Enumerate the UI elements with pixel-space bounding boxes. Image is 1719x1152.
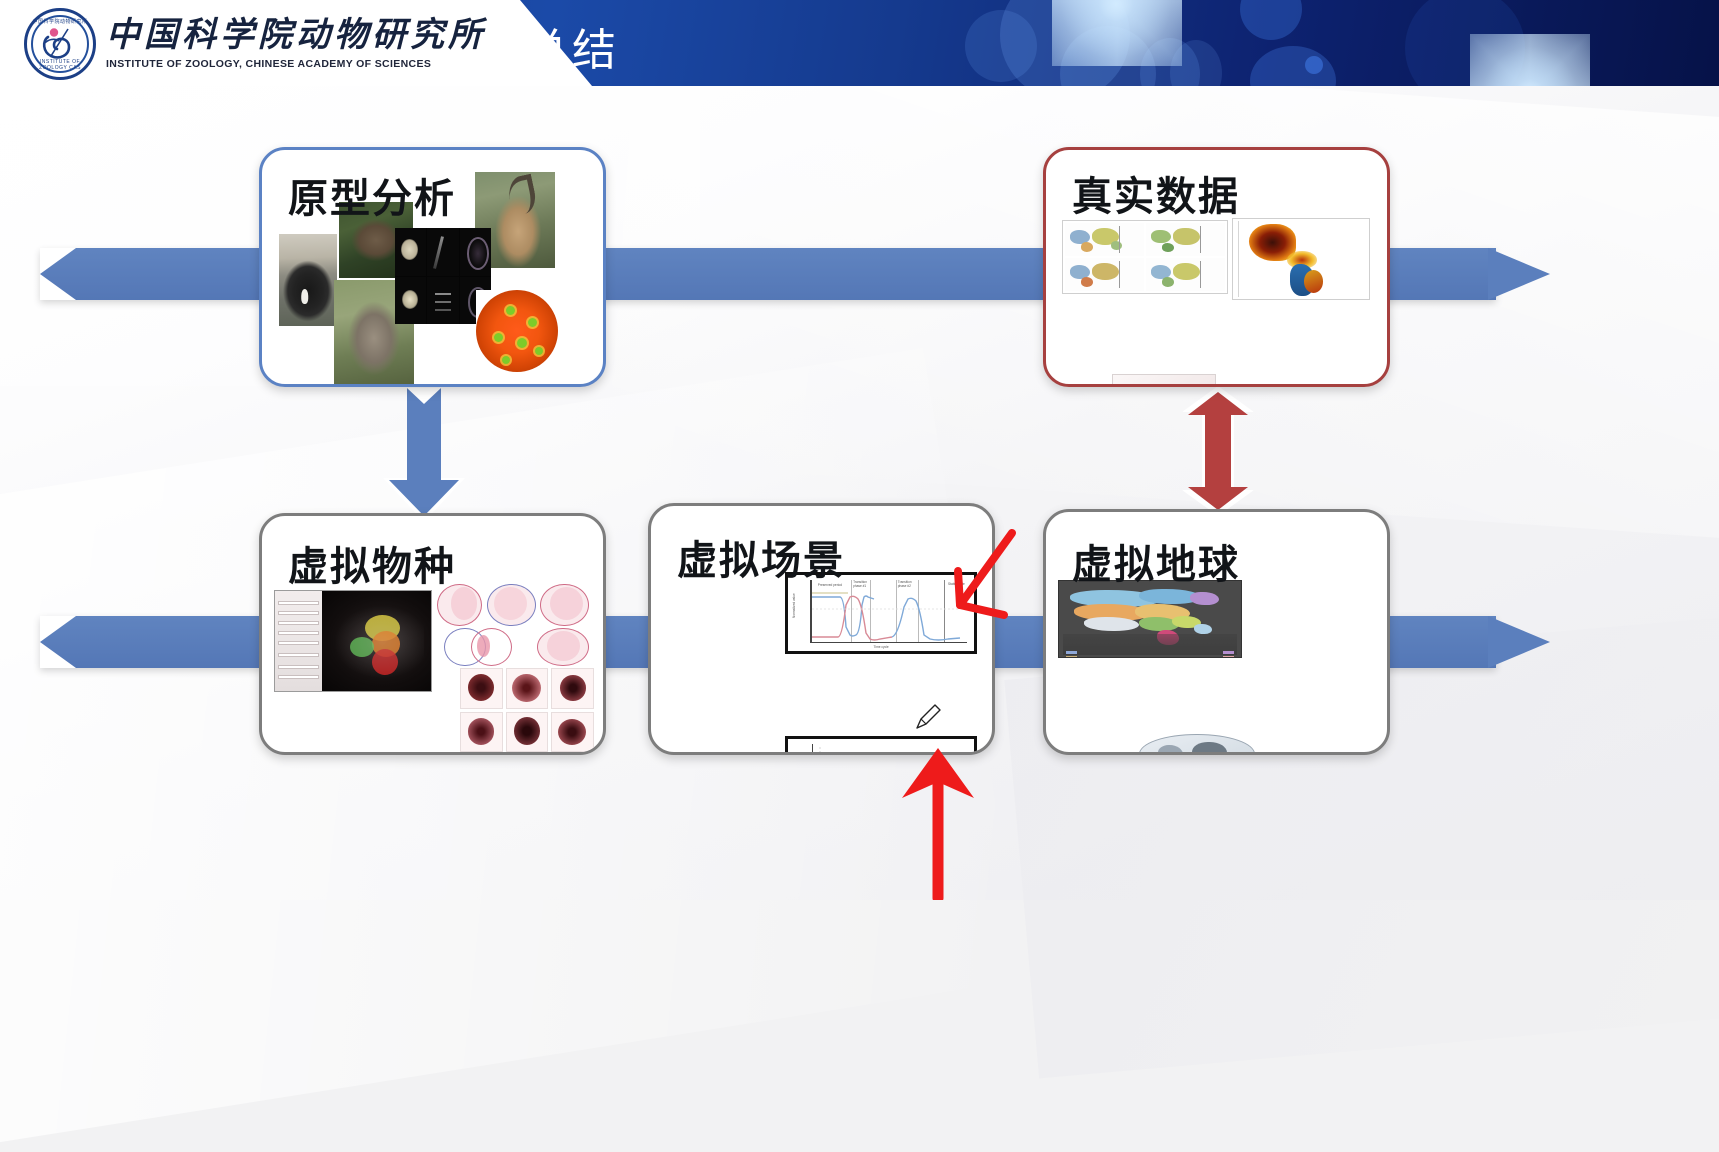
double-arrow-data-to-earth-icon — [1188, 392, 1248, 510]
environmental-variable-chart: Environmental variable Annual Precipitat… — [785, 736, 977, 755]
embryo-oval-diagrams — [434, 578, 600, 670]
flow-arrow-head-bottom-icon — [1488, 600, 1550, 684]
card-real-data[interactable]: 真实数据 — [1043, 147, 1390, 387]
eurasia-biome-map — [1058, 580, 1242, 658]
lens-flare-rays-icon — [1470, 34, 1590, 86]
card-title-virtual-earth: 虚拟地球 — [1072, 532, 1240, 590]
bokeh-circle — [965, 10, 1037, 82]
map-panel — [1146, 258, 1225, 291]
map-panel — [1065, 223, 1144, 256]
ink-density-map — [1112, 374, 1216, 387]
flow-arrow-head-top-icon — [1488, 232, 1550, 316]
crane-icon — [38, 25, 82, 65]
chart-ylabel: Normalized value — [792, 593, 796, 618]
map-panel — [1146, 223, 1225, 256]
institute-logo: 中国科学院动物研究所 INSTITUTE OF ZOOLOGY CAS 中国科学… — [24, 8, 486, 80]
card-title-virtual-species: 虚拟物种 — [288, 534, 456, 592]
globe-projections: Last Glacial Maximum — [1134, 732, 1258, 755]
black-bear-photo — [279, 234, 337, 326]
viewer-side-panel — [275, 591, 322, 691]
chart-annotation: Stable state — [948, 583, 970, 587]
3d-viewer-ui — [274, 590, 432, 692]
map-panel — [1065, 258, 1144, 291]
lens-flare-rays-icon — [1052, 0, 1182, 66]
slide-header: 中国科学院动物研究所 INSTITUTE OF ZOOLOGY CAS 中国科学… — [0, 0, 1719, 86]
chart-annotation: Transition phase #1 — [853, 581, 873, 588]
card-title-prototype-analysis: 原型分析 — [288, 166, 456, 224]
pen-cursor[interactable] — [913, 702, 943, 732]
bokeh-circle — [1305, 56, 1323, 74]
institute-name-cn: 中国科学院动物研究所 — [106, 18, 486, 54]
chart-xlabel: Time cycle — [874, 645, 889, 649]
card-title-real-data: 真实数据 — [1072, 164, 1240, 222]
page-title: 总结 — [524, 14, 620, 78]
card-title-virtual-scenario: 虚拟场景 — [677, 528, 845, 586]
down-arrow-prototype-to-species-icon — [398, 388, 450, 516]
virus-capsid-model — [476, 290, 558, 372]
slide-background — [0, 0, 1719, 900]
institute-name-en: INSTITUTE OF ZOOLOGY, CHINESE ACADEMY OF… — [106, 58, 486, 70]
crane-seal-icon: 中国科学院动物研究所 INSTITUTE OF ZOOLOGY CAS — [24, 8, 96, 80]
chart-annotation: Transition phase #2 — [898, 581, 918, 588]
card-virtual-species[interactable]: 虚拟物种 — [259, 513, 606, 755]
card-virtual-earth[interactable]: 虚拟地球 Last Glacial Maximum — [1043, 509, 1390, 755]
viewer-canvas — [322, 591, 431, 691]
americas-heatmap — [1232, 218, 1370, 300]
card-prototype-analysis[interactable]: 原型分析 — [259, 147, 606, 387]
world-map-panels — [1062, 220, 1228, 294]
seal-text-top: 中国科学院动物研究所 — [27, 18, 93, 25]
endoscopy-tiles — [460, 668, 594, 752]
